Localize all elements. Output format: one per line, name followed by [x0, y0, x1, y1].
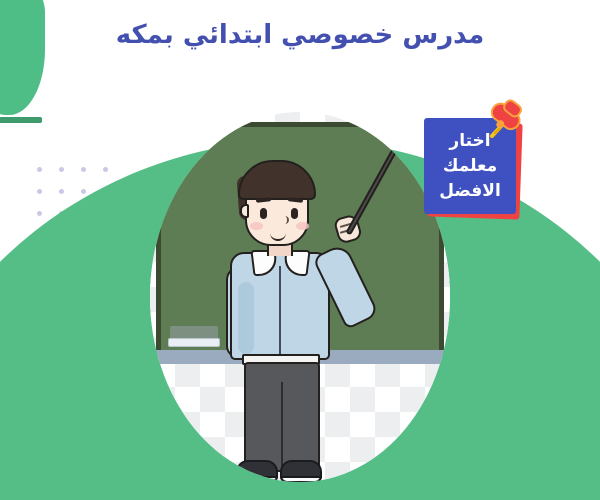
teacher-hair — [238, 160, 316, 200]
shoe-sole-right — [280, 476, 322, 482]
grid-dot — [59, 167, 64, 172]
badge-line-3: الافضل — [439, 179, 501, 204]
green-arch-bar — [0, 117, 42, 123]
badge-container: اختار معلمك الافضل — [424, 118, 520, 218]
grid-dot — [81, 189, 86, 194]
teacher-illustration — [150, 112, 450, 482]
grid-dot — [37, 189, 42, 194]
poster-canvas: مدرس خصوصي ابتدائي بمكه — [0, 0, 600, 500]
teacher-eye-right — [291, 208, 298, 219]
grid-dot — [59, 189, 64, 194]
shoe-sole-left — [236, 476, 278, 482]
pants-seam — [281, 382, 283, 472]
grid-dot — [37, 167, 42, 172]
teacher-cheek-left — [250, 222, 263, 230]
teacher-figure — [212, 154, 402, 482]
teacher-ear — [240, 204, 249, 218]
badge-line-2: معلمك — [443, 154, 497, 179]
shirt-placket — [279, 266, 281, 358]
grid-dot — [37, 211, 42, 216]
teacher-cheek-right — [296, 222, 309, 230]
grid-dot — [81, 167, 86, 172]
teacher-eye-left — [260, 208, 267, 219]
shirt-shading — [238, 282, 254, 354]
page-title: مدرس خصوصي ابتدائي بمكه — [0, 18, 600, 52]
grid-dot — [103, 167, 108, 172]
pushpin-icon — [482, 96, 526, 148]
